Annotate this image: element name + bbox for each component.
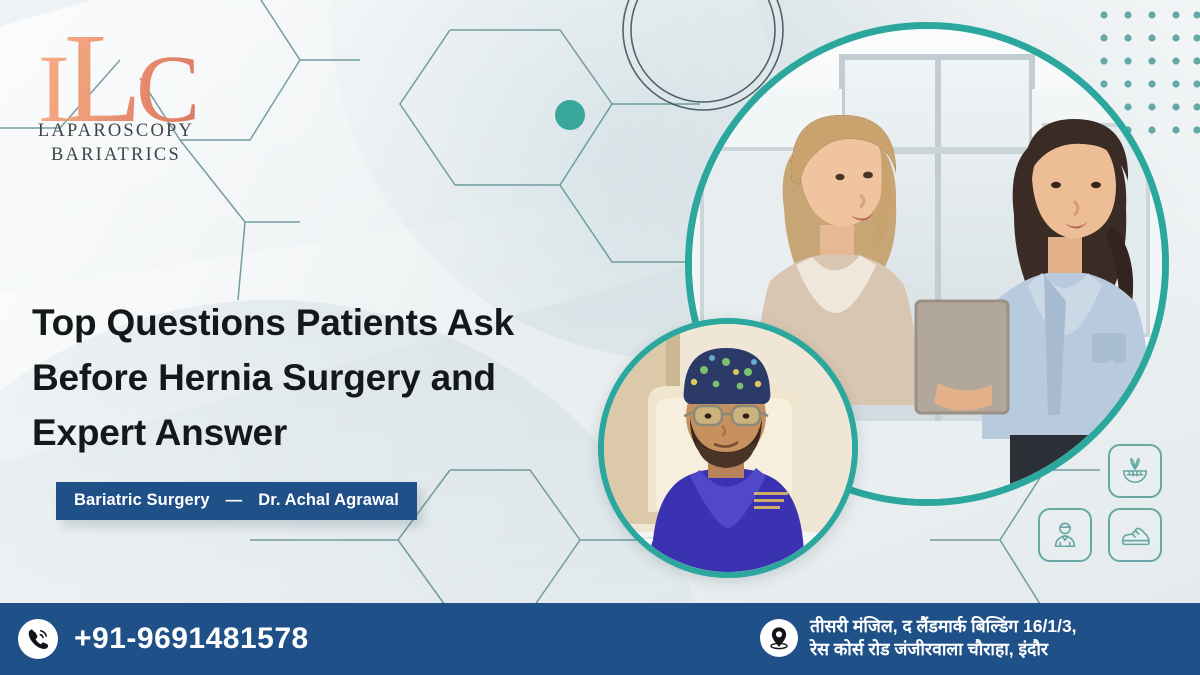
phone-icon-badge — [18, 619, 58, 659]
footer-address-line1: तीसरी मंजिल, द लैंडमार्क बिल्डिंग 16/1/3… — [810, 615, 1077, 638]
credit-author: Dr. Achal Agrawal — [258, 491, 399, 510]
salad-bowl-icon — [1120, 456, 1150, 486]
footer-phone-number[interactable]: +91-9691481578 — [74, 622, 309, 656]
doctor-icon — [1050, 520, 1080, 550]
location-icon-badge — [760, 619, 798, 657]
credit-category: Bariatric Surgery — [74, 491, 210, 510]
footer-phone-block[interactable]: +91-9691481578 — [18, 619, 309, 659]
logo-monogram: ILC — [26, 18, 206, 126]
contact-footer: +91-9691481578 तीसरी मंजिल, द लैंडमार्क … — [0, 603, 1200, 675]
doctor-chip[interactable] — [1038, 508, 1092, 562]
shoe-chip[interactable] — [1108, 508, 1162, 562]
credit-separator: — — [226, 491, 243, 510]
logo-word-line1: LAPAROSCOPY — [26, 120, 206, 144]
location-pin-icon — [766, 625, 792, 651]
shoe-icon — [1120, 520, 1150, 550]
credit-bar: Bariatric Surgery — Dr. Achal Agrawal — [56, 482, 417, 520]
footer-address-lines: तीसरी मंजिल, द लैंडमार्क बिल्डिंग 16/1/3… — [810, 615, 1077, 661]
poster-canvas: ILC LAPAROSCOPY BARIATRICS Top Questions… — [0, 0, 1200, 675]
doctor-photo-portrait — [598, 318, 858, 578]
doctor-photo-illustration — [604, 324, 852, 572]
logo-wordmark: LAPAROSCOPY BARIATRICS — [26, 120, 206, 167]
headline-text: Top Questions Patients Ask Before Hernia… — [32, 296, 572, 460]
logo-word-line2: BARIATRICS — [26, 144, 206, 168]
brand-logo: ILC LAPAROSCOPY BARIATRICS — [26, 18, 206, 167]
salad-bowl-chip[interactable] — [1108, 444, 1162, 498]
accent-dot — [555, 100, 585, 130]
footer-address-block[interactable]: तीसरी मंजिल, द लैंडमार्क बिल्डिंग 16/1/3… — [760, 615, 1077, 661]
phone-icon — [25, 626, 51, 652]
footer-address-line2: रेस कोर्स रोड जंजीरवाला चौराहा, इंदौर — [810, 638, 1077, 661]
